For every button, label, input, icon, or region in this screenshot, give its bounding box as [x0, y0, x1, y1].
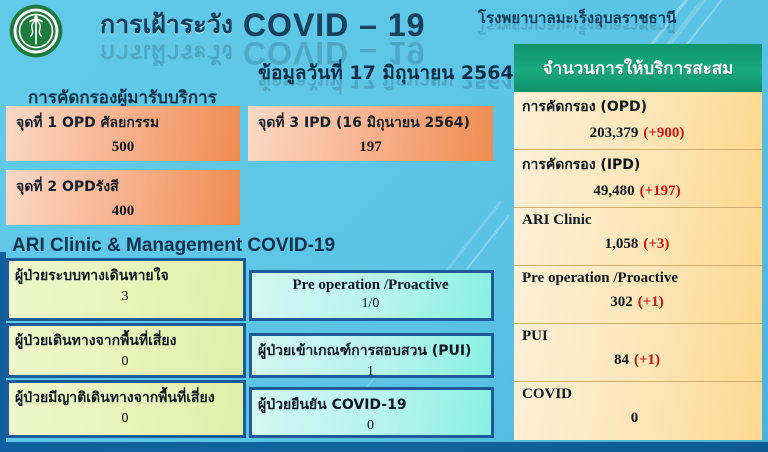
cumulative-row-delta: (+1) — [634, 352, 660, 368]
bottom-accent-bar — [0, 442, 768, 452]
cumulative-row-number: 302 — [610, 294, 633, 310]
cumulative-row-number: 84 — [614, 352, 629, 368]
cumulative-services-panel: จำนวนการให้บริการสะสม การคัดกรอง (OPD) 2… — [514, 44, 762, 442]
ari-card-value: 0 — [15, 354, 235, 370]
cumulative-row-delta: (+1) — [638, 294, 664, 310]
screening-card-point3: จุดที่ 3 IPD (16 มิถุนายน 2564) 197 — [248, 106, 493, 161]
screening-card-point1: จุดที่ 1 OPD ศัลยกรรม 500 — [6, 106, 240, 161]
hospital-name: โรงพยาบาลมะเร็งอุบลราชธานี — [478, 6, 676, 30]
ari-card-confirmed-covid: ผู้ป่วยยืนยัน COVID-19 0 — [249, 387, 494, 438]
screening-card-caption: จุดที่ 3 IPD (16 มิถุนายน 2564) — [258, 112, 483, 134]
ari-card-value: 0 — [258, 418, 483, 434]
ari-card-risk-area-travel: ผู้ป่วยเดินทางจากพื้นที่เสี่ยง 0 — [6, 323, 246, 378]
cumulative-row-number: 203,379 — [590, 125, 639, 141]
cumulative-row-ipd: การคัดกรอง (IPD) 49,480(+197) — [514, 150, 762, 208]
screening-card-value: 400 — [16, 203, 230, 220]
cumulative-row-caption: COVID — [522, 386, 752, 403]
ari-card-pre-operation-proactive: Pre operation /Proactive 1/0 — [249, 270, 494, 321]
ari-card-pui: ผู้ป่วยเข้าเกณฑ์การสอบสวน (PUI) 1 — [249, 333, 494, 378]
cumulative-row-value: 302(+1) — [522, 294, 752, 311]
cumulative-row-caption: การคัดกรอง (OPD) — [522, 96, 752, 118]
decorative-streak — [445, 200, 503, 273]
screening-card-caption: จุดที่ 2 OPDรังสี — [16, 176, 230, 198]
cumulative-row-caption: PUI — [522, 328, 752, 345]
cumulative-row-delta: (+3) — [643, 236, 669, 252]
screening-card-value: 500 — [16, 139, 230, 156]
ari-card-caption: ผู้ป่วยเดินทางจากพื้นที่เสี่ยง — [15, 330, 235, 352]
dashboard-root: การเฝ้าระวัง COVID – 19 การเฝ้าระวัง COV… — [0, 0, 768, 452]
ari-card-relative-risk-area-travel: ผู้ป่วยมีญาติเดินทางจากพื้นที่เสี่ยง 0 — [6, 380, 246, 438]
ari-card-caption: ผู้ป่วยยืนยัน COVID-19 — [258, 394, 483, 416]
ari-card-respiratory: ผู้ป่วยระบบทางเดินหายใจ 3 — [6, 258, 246, 321]
cumulative-row-number: 0 — [631, 410, 639, 426]
cumulative-row-caption: Pre operation /Proactive — [522, 270, 752, 287]
ari-card-caption: ผู้ป่วยระบบทางเดินหายใจ — [15, 265, 235, 287]
cumulative-row-caption: การคัดกรอง (IPD) — [522, 154, 752, 176]
cumulative-row-pui: PUI 84(+1) — [514, 324, 762, 382]
screening-card-point2: จุดที่ 2 OPDรังสี 400 — [6, 170, 240, 225]
left-accent-bar — [0, 252, 6, 452]
screening-card-value: 197 — [258, 139, 483, 156]
cumulative-row-value: 1,058(+3) — [522, 236, 752, 253]
ari-card-value: 0 — [15, 411, 235, 427]
cumulative-row-opd: การคัดกรอง (OPD) 203,379(+900) — [514, 92, 762, 150]
cumulative-row-value: 49,480(+197) — [522, 183, 752, 200]
ministry-of-public-health-seal-icon — [8, 3, 64, 59]
cumulative-row-covid: COVID 0 — [514, 382, 762, 440]
cumulative-row-delta: (+197) — [640, 183, 681, 199]
page-title-en: COVID – 19 — [243, 7, 426, 44]
cumulative-row-value: 84(+1) — [522, 352, 752, 369]
cumulative-row-number: 49,480 — [593, 183, 634, 199]
cumulative-row-ari-clinic: ARI Clinic 1,058(+3) — [514, 208, 762, 266]
ari-card-caption: Pre operation /Proactive — [258, 277, 483, 294]
screening-card-caption: จุดที่ 1 OPD ศัลยกรรม — [16, 112, 230, 134]
cumulative-row-delta: (+900) — [643, 125, 684, 141]
cumulative-row-value: 203,379(+900) — [522, 125, 752, 142]
data-date: ข้อมูลวันที่ 17 มิถุนายน 2564 — [258, 58, 514, 88]
ari-card-value: 1 — [258, 364, 483, 380]
cumulative-row-value: 0 — [522, 410, 752, 427]
page-title-thai: การเฝ้าระวัง — [100, 5, 233, 45]
decorative-streak — [465, 215, 510, 271]
cumulative-panel-header: จำนวนการให้บริการสะสม — [514, 44, 762, 92]
cumulative-row-pre-operation-proactive: Pre operation /Proactive 302(+1) — [514, 266, 762, 324]
ari-card-caption: ผู้ป่วยเข้าเกณฑ์การสอบสวน (PUI) — [258, 340, 483, 362]
ari-card-caption: ผู้ป่วยมีญาติเดินทางจากพื้นที่เสี่ยง — [15, 387, 235, 409]
ari-card-value: 1/0 — [258, 296, 483, 312]
page-title: การเฝ้าระวัง COVID – 19 — [100, 4, 425, 46]
cumulative-row-number: 1,058 — [605, 236, 639, 252]
cumulative-row-caption: ARI Clinic — [522, 212, 752, 229]
ari-card-value: 3 — [15, 289, 235, 305]
ari-section-label: ARI Clinic & Management COVID-19 — [12, 235, 335, 257]
